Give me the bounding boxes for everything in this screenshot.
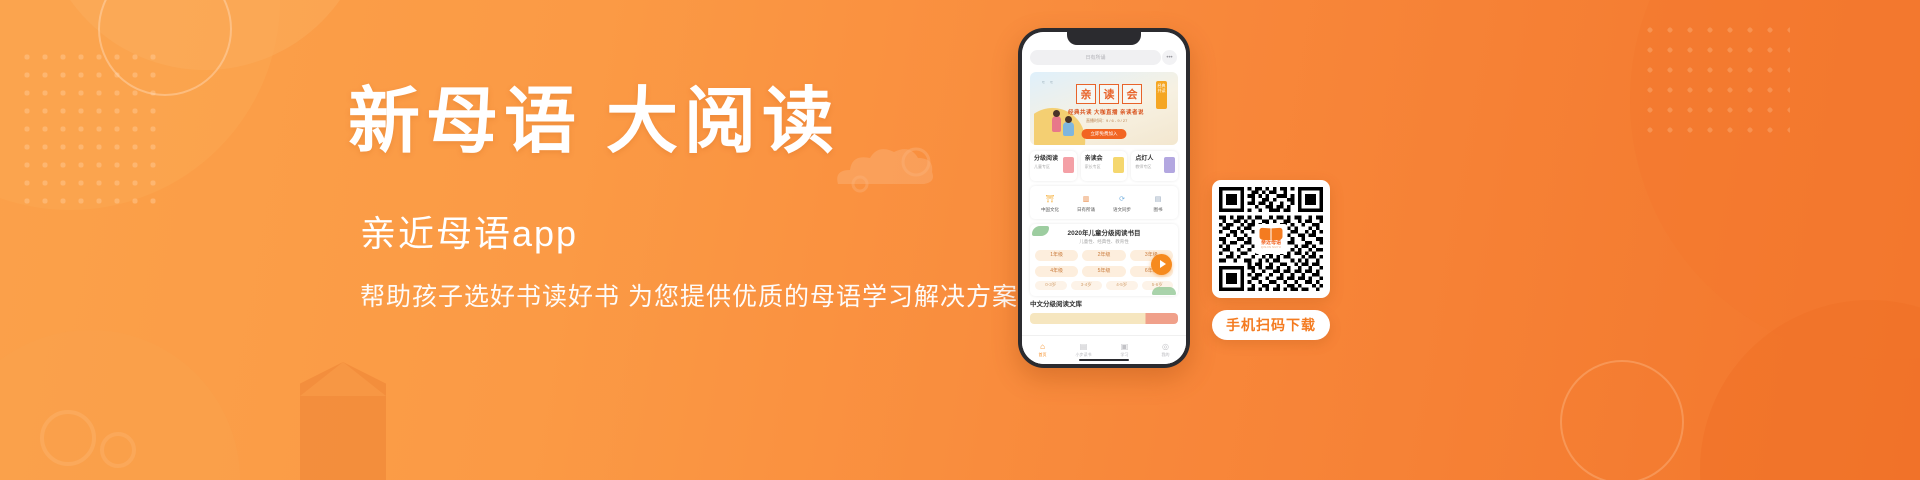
home-icon: ⌂ [1022,343,1063,351]
library-icon: ▤ [1152,192,1165,205]
qr-code-card: 亲近母语 QINJIN MUYU [1212,180,1330,298]
category-thumb-icon [1113,157,1124,173]
category-card-1[interactable]: 亲读会 家长专区 [1081,151,1128,181]
category-cards: 分级阅读 儿童专区 亲读会 家长专区 点灯人 教师专区 [1030,151,1178,181]
book-icon: ▥ [1080,192,1093,205]
quick-link-label: 中国文化 [1032,208,1068,213]
hero-ribbon: 经典共读 [1156,81,1167,109]
quick-link-label: 图书 [1140,208,1176,213]
tab-label: 学习 [1104,353,1145,357]
age-row: 0-3岁 3-4岁 4-5岁 5-6岁 [1035,281,1173,291]
phone-mockup: 日有所诵 ••• ≈ ≈ 亲 读 会 经典共读 经典共读 大咖直播 亲读者说 [1018,28,1190,368]
download-section: 亲近母语 QINJIN MUYU 手机扫码下载 [1212,180,1330,340]
category-thumb-icon [1164,157,1175,173]
message-icon[interactable]: ••• [1162,50,1177,65]
hero-date: 直播时间：9 / 6 - 9 / 27 [1086,118,1127,124]
tab-home[interactable]: ⌂ 首页 [1022,343,1063,357]
booklist-section: 2020年儿童分级阅读书目 儿童性、经典性、教育性 1年级 2年级 3年级 4年… [1030,224,1178,297]
decor-cube-top [300,362,386,396]
book-logo-icon [1260,228,1283,240]
tab-profile[interactable]: ◎ 我的 [1145,343,1186,357]
qr-code-image: 亲近母语 QINJIN MUYU [1219,187,1323,291]
quick-link-label: 语文同步 [1104,208,1140,213]
decor-dot-grid-right [1640,20,1790,140]
category-card-0[interactable]: 分级阅读 儿童专区 [1030,151,1077,181]
grade-chip[interactable]: 2年级 [1082,250,1125,261]
play-button-icon[interactable] [1151,254,1172,275]
hero-char-2: 读 [1099,84,1119,104]
age-chip[interactable]: 4-5岁 [1106,281,1138,291]
download-button[interactable]: 手机扫码下载 [1212,310,1330,340]
phone-notch [1067,32,1141,45]
hero-subtitle: 经典共读 大咖直播 亲读者说 [1068,108,1144,116]
decor-ring-bottom [1560,360,1684,480]
quick-link-3[interactable]: ▤ 图书 [1140,192,1176,213]
search-input[interactable]: 日有所诵 [1030,50,1161,65]
app-name: 亲近母语app [360,216,1048,252]
category-thumb-icon [1063,157,1074,173]
brand-logo: 亲近母语 QINJIN MUYU [1255,224,1288,254]
grade-chip[interactable]: 4年级 [1035,266,1078,277]
library-title: 中文分级阅读文库 [1030,302,1178,309]
tab-label: 小步读书 [1063,353,1104,357]
study-icon: ▣ [1104,343,1145,351]
decor-circle-bottom-right [1700,300,1920,480]
age-chip[interactable]: 3-4岁 [1071,281,1103,291]
hero-banner[interactable]: ≈ ≈ 亲 读 会 经典共读 经典共读 大咖直播 亲读者说 直播时间：9 / 6… [1030,72,1178,145]
promo-banner: 新母语 大阅读 亲近母语app 帮助孩子选好书读好书 为您提供优质的母语学习解决… [0,0,1920,480]
banner-copy: 新母语 大阅读 亲近母语app 帮助孩子选好书读好书 为您提供优质的母语学习解决… [348,86,1048,310]
grade-chip[interactable]: 5年级 [1082,266,1125,277]
age-chip[interactable]: 0-3岁 [1035,281,1067,291]
search-placeholder: 日有所诵 [1085,54,1105,61]
quick-link-1[interactable]: ▥ 日有所诵 [1068,192,1104,213]
hero-join-button[interactable]: 立即免费加入 [1082,129,1127,139]
tab-label: 我的 [1145,353,1186,357]
hero-char-3: 会 [1122,84,1142,104]
decor-ring-top [98,0,232,96]
profile-icon: ◎ [1145,343,1186,351]
banner-tagline: 帮助孩子选好书读好书 为您提供优质的母语学习解决方案 [360,285,1048,310]
hero-char-1: 亲 [1076,84,1096,104]
library-banner[interactable] [1030,313,1178,324]
decor-cloud-bottom-left [28,398,168,468]
booklist-title: 2020年儿童分级阅读书目 [1035,231,1173,238]
tab-study[interactable]: ▣ 学习 [1104,343,1145,357]
reading-icon: ▤ [1063,343,1104,351]
decor-cube [300,362,386,480]
home-indicator [1079,359,1129,361]
quick-links: ⛩ 中国文化 ▥ 日有所诵 ⟳ 语文同步 ▤ 图书 [1030,186,1178,219]
app-screen: 日有所诵 ••• ≈ ≈ 亲 读 会 经典共读 经典共读 大咖直播 亲读者说 [1022,32,1186,364]
grade-chip[interactable]: 1年级 [1035,250,1078,261]
decor-circle-right [1630,0,1920,360]
tab-reading[interactable]: ▤ 小步读书 [1063,343,1104,357]
sync-icon: ⟳ [1116,192,1129,205]
hero-title: 亲 读 会 [1076,84,1142,104]
culture-icon: ⛩ [1044,192,1057,205]
category-card-2[interactable]: 点灯人 教师专区 [1131,151,1178,181]
tab-label: 首页 [1022,353,1063,357]
quick-link-2[interactable]: ⟳ 语文同步 [1104,192,1140,213]
booklist-subtitle: 儿童性、经典性、教育性 [1035,240,1173,245]
brand-name-en: QINJIN MUYU [1261,247,1281,250]
quick-link-label: 日有所诵 [1068,208,1104,213]
decor-leaf-2 [1152,287,1176,295]
quick-link-0[interactable]: ⛩ 中国文化 [1032,192,1068,213]
decor-birds: ≈ ≈ [1042,80,1055,86]
page-title: 新母语 大阅读 [348,86,1048,158]
